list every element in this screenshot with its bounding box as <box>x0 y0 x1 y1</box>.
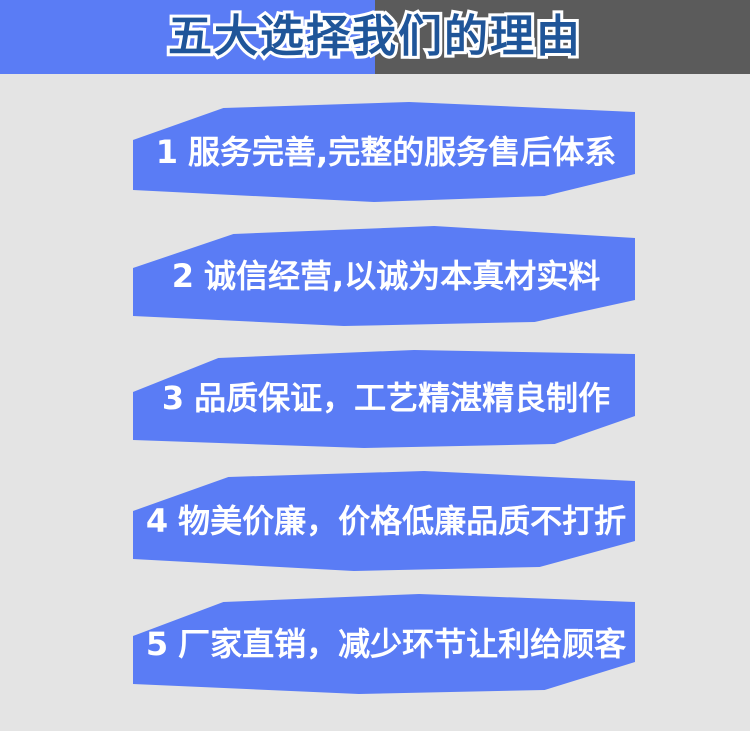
page-header: 五大选择我们的理由 <box>0 0 750 74</box>
reason-label: 厂家直销，减少环节让利给顾客 <box>178 628 626 660</box>
reason-text: 4 物美价廉，价格低廉品质不打折 <box>133 471 635 571</box>
reason-item-2: 2 诚信经营,以诚为本真材实料 <box>133 226 635 326</box>
reason-label: 品质保证，工艺精湛精良制作 <box>194 382 610 414</box>
reason-item-1: 1 服务完善,完整的服务售后体系 <box>133 102 635 202</box>
reason-number: 2 <box>172 260 194 292</box>
reason-label: 物美价廉，价格低廉品质不打折 <box>178 505 626 537</box>
reason-text: 1 服务完善,完整的服务售后体系 <box>133 102 635 202</box>
reason-item-4: 4 物美价廉，价格低廉品质不打折 <box>133 471 635 571</box>
reason-number: 3 <box>162 382 184 414</box>
page-title: 五大选择我们的理由 <box>0 0 750 74</box>
reason-label: 诚信经营,以诚为本真材实料 <box>204 260 600 292</box>
reason-number: 4 <box>146 505 168 537</box>
reason-number: 5 <box>146 628 168 660</box>
reason-text: 5 厂家直销，减少环节让利给顾客 <box>133 594 635 694</box>
reason-number: 1 <box>156 136 178 168</box>
reason-item-3: 3 品质保证，工艺精湛精良制作 <box>133 348 635 448</box>
reason-text: 2 诚信经营,以诚为本真材实料 <box>133 226 635 326</box>
reason-text: 3 品质保证，工艺精湛精良制作 <box>133 348 635 448</box>
reason-label: 服务完善,完整的服务售后体系 <box>188 136 616 168</box>
reason-item-5: 5 厂家直销，减少环节让利给顾客 <box>133 594 635 694</box>
reasons-list: 1 服务完善,完整的服务售后体系 2 诚信经营,以诚为本真材实料 3 品质保证，… <box>0 74 750 731</box>
